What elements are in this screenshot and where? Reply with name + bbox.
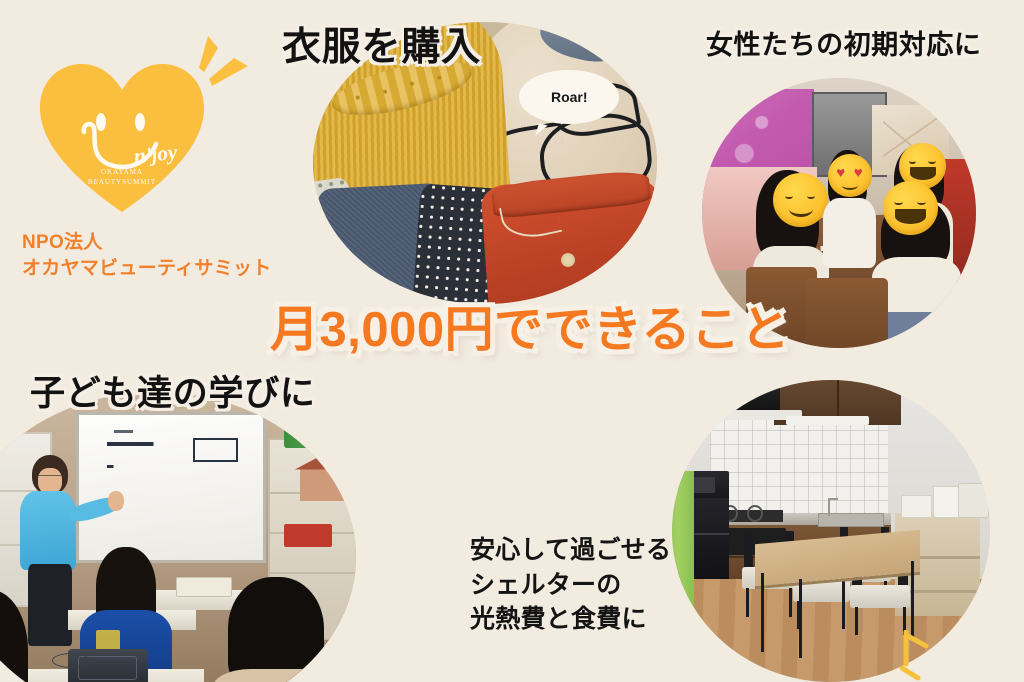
chair <box>850 585 910 633</box>
sparkle-lines-icon <box>900 630 970 682</box>
heart-smiley-icon: n'joy OKAYAMA BEAUTYSUMMIT <box>38 60 206 216</box>
logo-mark-line2: BEAUTYSUMMIT <box>38 178 206 187</box>
njoy-script-mark: n'joy <box>133 140 179 169</box>
grinning-emoji-mask <box>883 181 938 235</box>
caption-shelter: 安心して過ごせる シェルターの 光熱費と食費に <box>470 533 671 637</box>
roar-speech-bubble: Roar! <box>519 70 619 124</box>
poster-canvas: n'joy OKAYAMA BEAUTYSUMMIT NPO法人 オカヤマビュー… <box>0 0 1024 682</box>
caption-women: 女性たちの初期対応に <box>706 30 981 61</box>
heart-eyes-emoji-mask <box>828 154 872 197</box>
photo-children-learning <box>0 392 356 682</box>
logo-mark-line1: OKAYAMA <box>38 168 206 177</box>
main-headline: 月3,000円でできること <box>270 306 790 355</box>
classroom-photo-art <box>0 392 356 682</box>
organization-name: NPO法人 オカヤマビューティサミット <box>22 230 272 282</box>
caption-clothes: 衣服を購入 <box>282 26 481 71</box>
smiley-emoji-mask <box>773 173 828 227</box>
caption-children: 子ども達の学びに <box>30 374 316 414</box>
organization-logo-block: n'joy OKAYAMA BEAUTYSUMMIT NPO法人 オカヤマビュー… <box>10 18 300 278</box>
